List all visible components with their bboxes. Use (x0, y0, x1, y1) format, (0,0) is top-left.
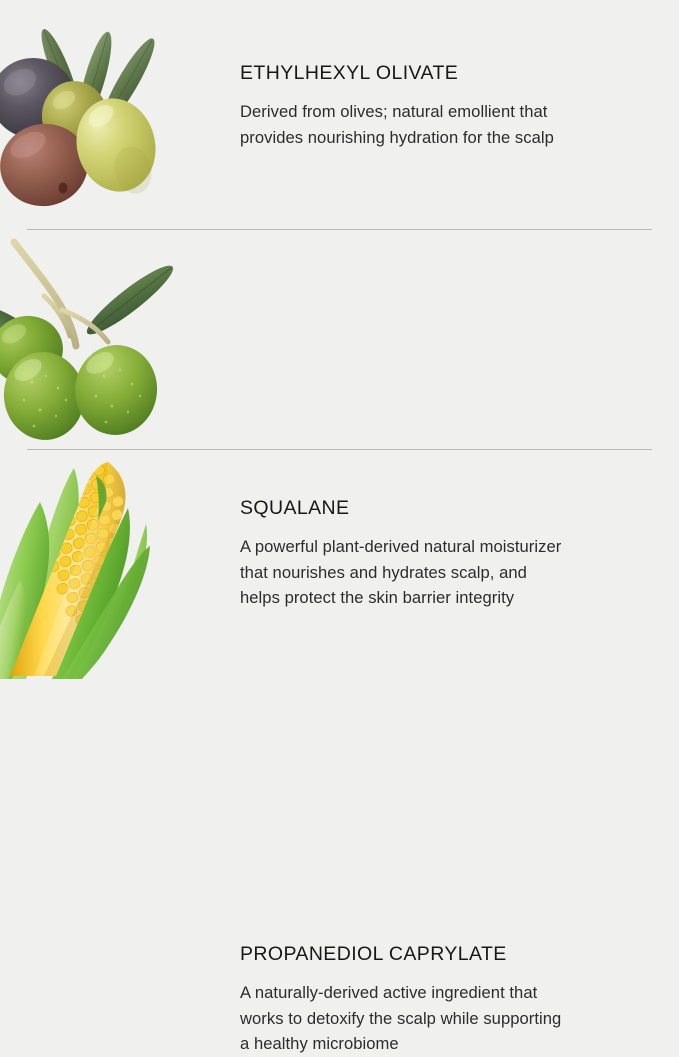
olive-front-right (71, 341, 162, 439)
ingredient-text-block: ETHYLHEXYL OLIVATE Derived from olives; … (240, 63, 570, 150)
ingredient-section-ethylhexyl-olivate: ETHYLHEXYL OLIVATE Derived from olives; … (0, 0, 679, 229)
ingredient-section-propanediol-caprylate: PROPANEDIOL CAPRYLATE A naturally-derive… (0, 450, 679, 679)
corn-cob-image (0, 450, 230, 679)
ingredient-text-block: PROPANEDIOL CAPRYLATE A naturally-derive… (240, 944, 570, 1057)
olive-cluster-image (0, 0, 230, 229)
ingredient-highlights-page: ETHYLHEXYL OLIVATE Derived from olives; … (0, 0, 679, 679)
ingredient-section-squalane: SQUALANE A powerful plant-derived natura… (0, 230, 679, 449)
ingredient-title: ETHYLHEXYL OLIVATE (240, 63, 570, 84)
ingredient-description: Derived from olives; natural emollient t… (240, 99, 570, 150)
olive-branch-image (0, 230, 230, 449)
ingredient-description: A naturally-derived active ingredient th… (240, 980, 570, 1056)
ingredient-title: PROPANEDIOL CAPRYLATE (240, 944, 570, 965)
